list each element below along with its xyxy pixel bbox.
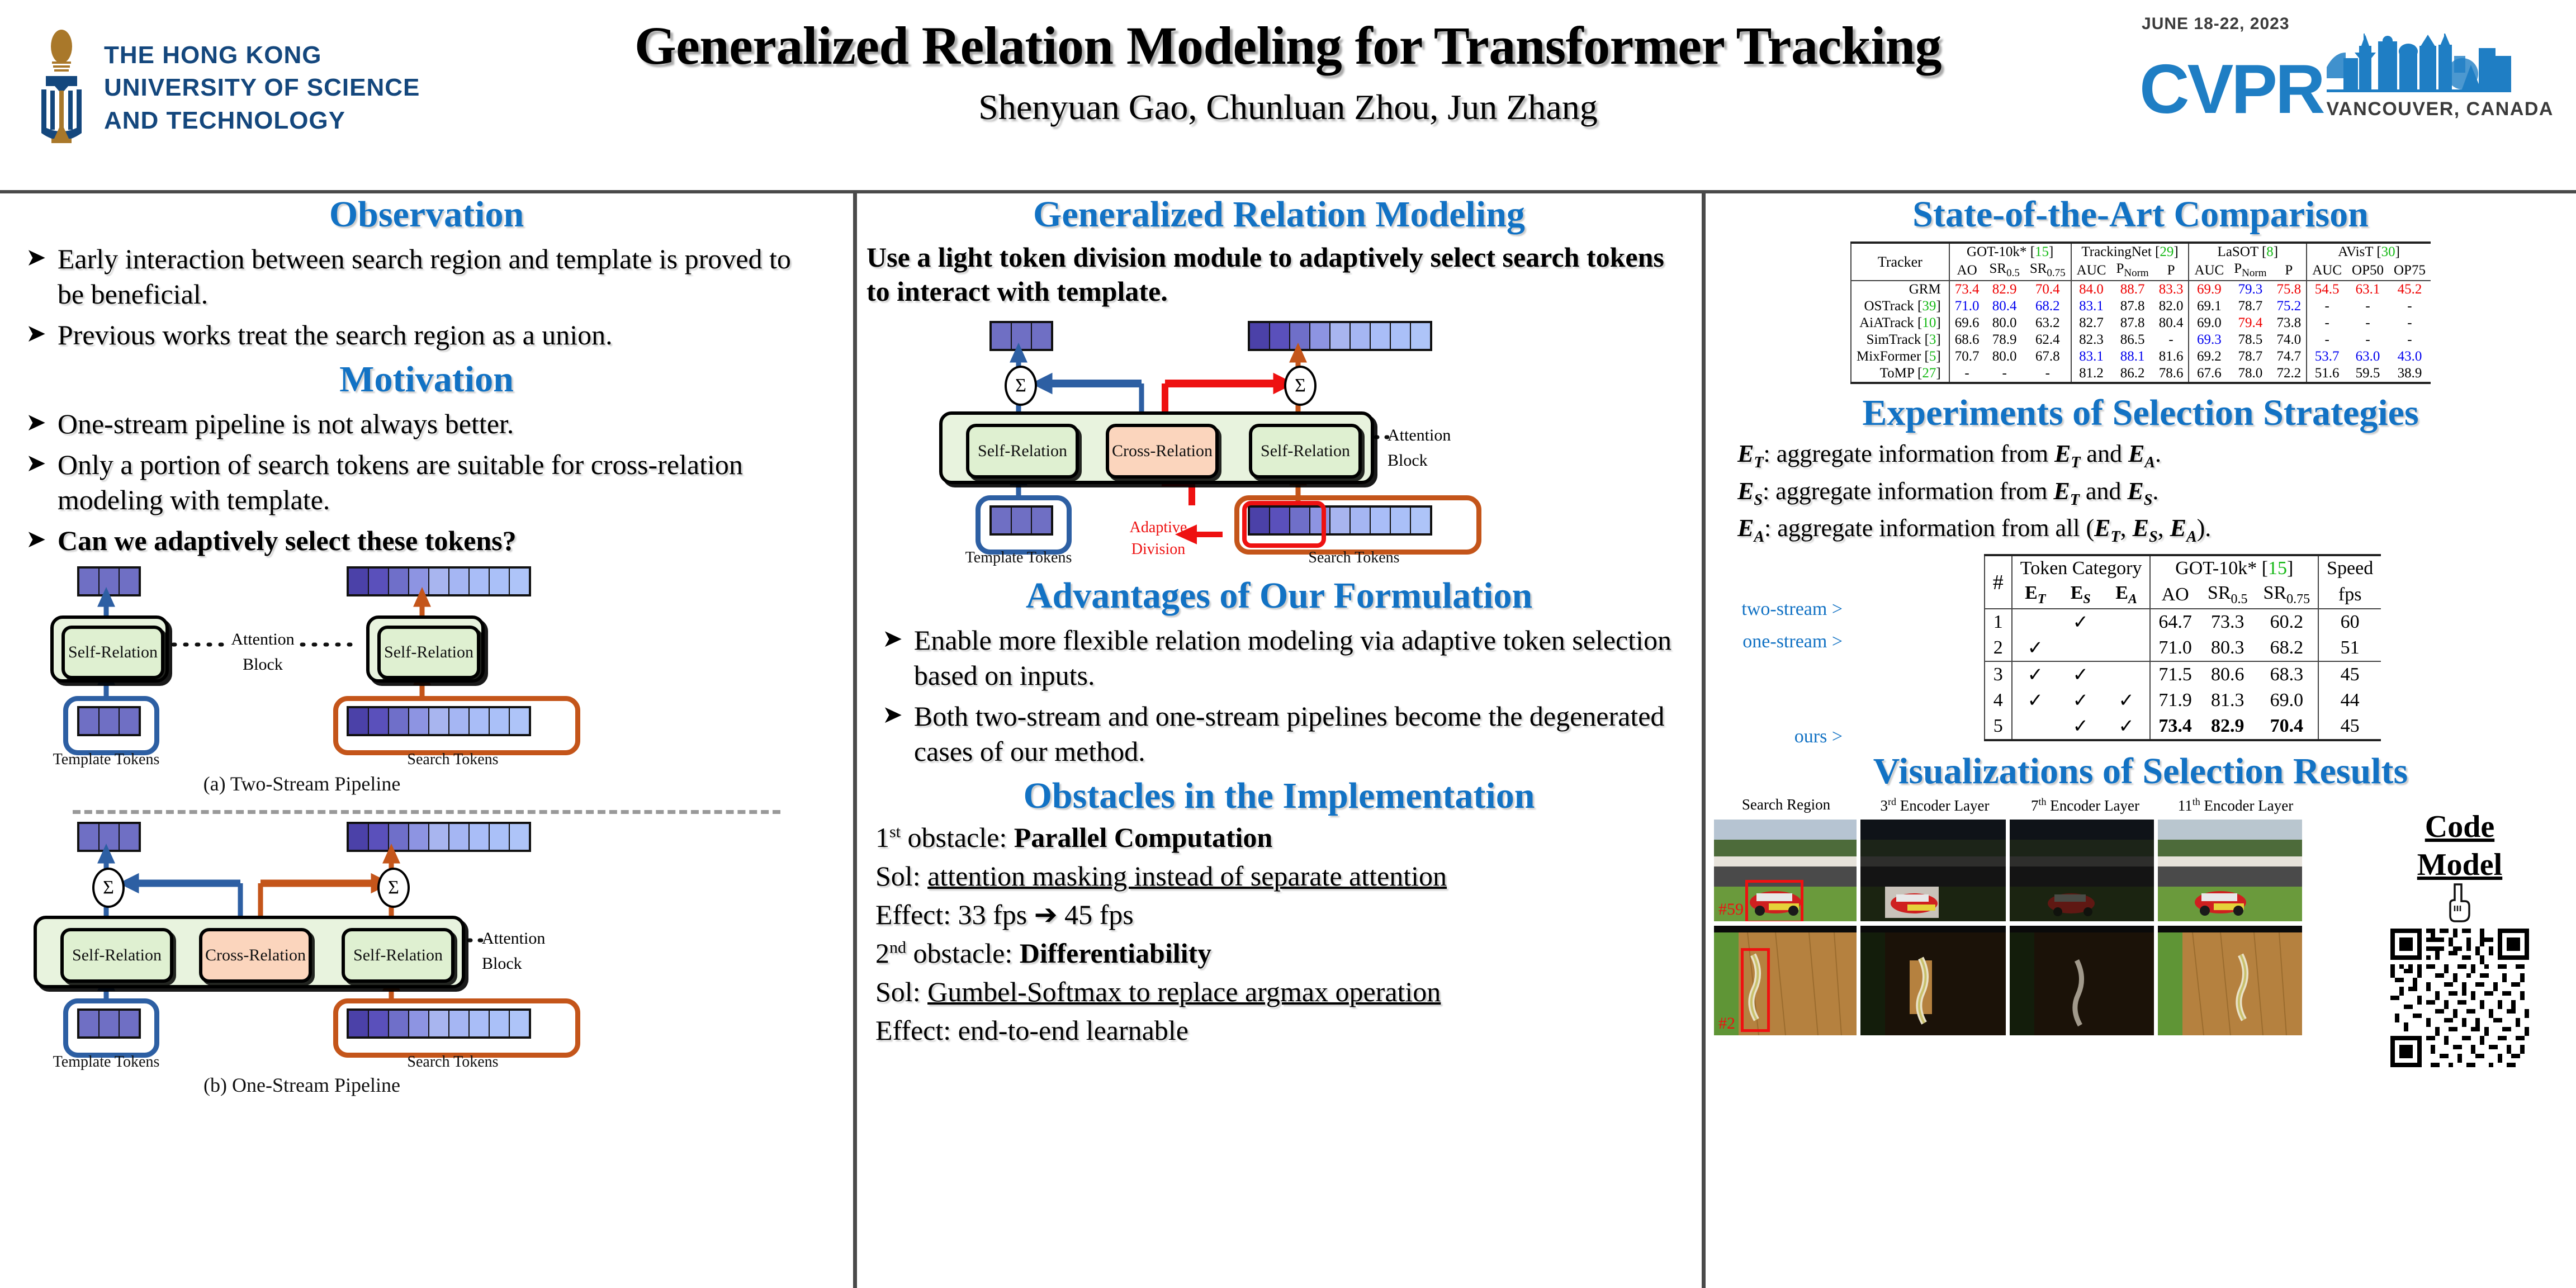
- table-cell: 78.7: [2229, 348, 2271, 365]
- adaptive-division-hull: [1242, 501, 1326, 548]
- table-cell: ✓: [2012, 688, 2058, 713]
- table-cell: 82.7: [2071, 315, 2111, 332]
- table-cell: [2058, 635, 2103, 661]
- table-row: 3✓✓71.580.668.345: [1985, 661, 2381, 688]
- obstacle-2-name: Differentiability: [1020, 937, 1211, 969]
- col-header-ea: EA: [2103, 581, 2151, 609]
- table-cell: [2012, 713, 2058, 740]
- cvpr-wordmark: CVPR: [2139, 59, 2323, 120]
- table-cell: 82.9: [1984, 281, 2024, 298]
- annotation-two-stream: two-stream >: [1708, 593, 1843, 626]
- cvpr-logo: JUNE 18-22, 2023 CVPR: [2139, 15, 2554, 120]
- vis-image-3rd-layer-2: [1860, 926, 2006, 1035]
- sigma-node-template: Σ: [1005, 366, 1037, 406]
- table-cell: 80.4: [1984, 298, 2024, 315]
- col-header-sr075: SR0.75: [2025, 261, 2071, 281]
- selection-strategies-table: # Token Category GOT-10k* [15] Speed ET …: [1984, 554, 2381, 742]
- target-bbox: [1741, 948, 1770, 1032]
- table-cell: 68.6: [1949, 332, 1985, 348]
- table-cell: 69.2: [2189, 348, 2229, 365]
- frame-label-1: #59: [1718, 900, 1744, 919]
- table-cell: 80.6: [2200, 661, 2256, 688]
- table-cell: 63.1: [2347, 281, 2389, 298]
- table-cell: 82.3: [2071, 332, 2111, 348]
- col-header-pnorm-tn: PNorm: [2111, 261, 2153, 281]
- motivation-bullet-1: One-stream pipeline is not always better…: [58, 406, 514, 442]
- table-row: AiATrack [10]69.680.063.282.787.880.469.…: [1851, 315, 2431, 332]
- table-cell: 51.6: [2307, 365, 2347, 383]
- input-search-tokens: [347, 706, 531, 736]
- vis-header-7th: 7th Encoder Layer: [2010, 796, 2160, 815]
- section-title-observation: Observation: [0, 193, 853, 236]
- col-header-auc-tn: AUC: [2071, 261, 2111, 281]
- template-tokens-label: Template Tokens: [50, 1053, 162, 1071]
- obstacle-2-sup: nd: [889, 938, 906, 956]
- list-item: ➤ Only a portion of search tokens are su…: [26, 447, 823, 518]
- search-tokens-label: Search Tokens: [391, 751, 514, 769]
- col-header-num: #: [1985, 555, 2012, 609]
- template-tokens-label: Template Tokens: [963, 549, 1074, 567]
- obstacle-1-solution: Sol: attention masking instead of separa…: [875, 858, 1702, 894]
- table-cell: ✓: [2058, 688, 2103, 713]
- table-cell: -: [2389, 315, 2431, 332]
- table-cell: 71.9: [2150, 688, 2200, 713]
- col-header-fps: fps: [2318, 581, 2381, 609]
- col-header-ao: AO: [1949, 261, 1985, 281]
- self-relation-box-left: Self-Relation: [966, 424, 1079, 479]
- table-cell: 78.0: [2229, 365, 2271, 383]
- vis-column-headers: Search Region 3rd Encoder Layer 7th Enco…: [1713, 796, 2311, 815]
- selection-row-annotations: two-stream > one-stream > ours >: [1708, 593, 1843, 753]
- attention-block-shared: Self-Relation Cross-Relation Self-Relati…: [939, 411, 1374, 484]
- table-cell: 63.2: [2025, 315, 2071, 332]
- observation-bullet-1: Early interaction between search region …: [58, 241, 823, 312]
- attention-block-label: Attention Block: [482, 926, 577, 976]
- selection-table-wrap: two-stream > one-stream > ours > # Token…: [1705, 554, 2576, 742]
- table-cell: -: [2347, 332, 2389, 348]
- table-cell: 71.0: [1949, 298, 1985, 315]
- table-cell: ✓: [2058, 713, 2103, 740]
- table-cell: 84.0: [2071, 281, 2111, 298]
- table-cell: 54.5: [2307, 281, 2347, 298]
- table-cell: 45: [2318, 713, 2381, 740]
- visualization-panel: Search Region 3rd Encoder Layer 7th Enco…: [1705, 796, 2576, 1042]
- table-cell: 73.4: [1949, 281, 1985, 298]
- vis-row-racecar: #59: [1714, 820, 2302, 921]
- figure-a-caption: (a) Two-Stream Pipeline: [0, 772, 604, 795]
- input-search-tokens: [347, 1008, 531, 1039]
- table-cell: -: [2389, 332, 2431, 348]
- input-template-tokens: [77, 706, 141, 736]
- table-cell: 45: [2318, 661, 2381, 688]
- table-cell: 44: [2318, 688, 2381, 713]
- obstacle-1-name: Parallel Computation: [1014, 822, 1272, 853]
- table-cell: 53.7: [2307, 348, 2347, 365]
- adaptive-division-label: Adaptive Division: [1125, 517, 1192, 560]
- table-cell: 51: [2318, 635, 2381, 661]
- table-cell: 68.3: [2256, 661, 2319, 688]
- table-cell: -: [1984, 365, 2024, 383]
- col-header-op50: OP50: [2347, 261, 2389, 281]
- frame-label-2: #2: [1718, 1014, 1735, 1033]
- obstacle-1-line: 1st obstacle: Parallel Computation: [875, 820, 1702, 856]
- row-number: 5: [1985, 713, 2012, 740]
- col-header-tracker: Tracker: [1851, 243, 1949, 281]
- tracker-name: SimTrack [3]: [1851, 332, 1949, 348]
- table-cell: 80.4: [2154, 315, 2189, 332]
- table-cell: 78.9: [1984, 332, 2024, 348]
- table-cell: 43.0: [2389, 348, 2431, 365]
- section-title-sota: State-of-the-Art Comparison: [1705, 193, 2576, 236]
- def-ea: EA: aggregate information from all (ET, …: [1737, 511, 2576, 548]
- search-tokens-label: Search Tokens: [1292, 549, 1415, 567]
- bullet-arrow-icon: ➤: [26, 319, 46, 354]
- col-header-sr075-sel: SR0.75: [2256, 581, 2319, 609]
- row-number: 3: [1985, 661, 2012, 688]
- list-item: ➤ One-stream pipeline is not always bett…: [26, 406, 823, 442]
- self-relation-box: Self-Relation: [61, 626, 164, 679]
- self-relation-box-right: Self-Relation: [342, 928, 454, 983]
- col-header-sr05: SR0.5: [1984, 261, 2024, 281]
- attention-block-label: Attention Block: [224, 627, 302, 677]
- table-cell: 75.8: [2271, 281, 2307, 298]
- bullet-arrow-icon: ➤: [26, 524, 46, 560]
- bullet-arrow-icon: ➤: [882, 624, 903, 694]
- figure-b-caption: (b) One-Stream Pipeline: [0, 1073, 604, 1097]
- section-title-experiments: Experiments of Selection Strategies: [1705, 392, 2576, 434]
- vis-image-search-region-1: #59: [1714, 820, 1857, 921]
- table-cell: ✓: [2103, 713, 2151, 740]
- obstacle-2-effect: Effect: end-to-end learnable: [875, 1012, 1702, 1049]
- table-cell: 83.1: [2071, 298, 2111, 315]
- table-cell: 69.3: [2189, 332, 2229, 348]
- cvpr-date: JUNE 18-22, 2023: [2142, 15, 2554, 34]
- bullet-arrow-icon: ➤: [26, 243, 46, 313]
- table-cell: 68.2: [2025, 298, 2071, 315]
- table-cell: 74.7: [2271, 348, 2307, 365]
- figure-two-stream-pipeline: Self-Relation Self-Relation Attention Bl…: [0, 566, 853, 807]
- bullet-arrow-icon: ➤: [26, 448, 46, 519]
- table-cell: 88.1: [2111, 348, 2153, 365]
- def-es: ES: aggregate information from ET and ES…: [1737, 474, 2576, 512]
- code-model-block: Code Model: [2376, 809, 2544, 1067]
- advantage-bullet-2: Both two-stream and one-stream pipelines…: [914, 699, 1671, 769]
- table-row: 2✓71.080.368.251: [1985, 635, 2381, 661]
- obstacle-1-label: obstacle:: [901, 822, 1014, 853]
- table-cell: 88.7: [2111, 281, 2153, 298]
- sota-table-body: GRM73.482.970.484.088.783.369.979.375.85…: [1851, 281, 2431, 383]
- column-right: State-of-the-Art Comparison Tracker GOT-…: [1705, 193, 2576, 1288]
- table-row: ToMP [27]---81.286.278.667.678.072.251.6…: [1851, 365, 2431, 383]
- vis-image-7th-layer-2: [2010, 926, 2154, 1035]
- vis-image-3rd-layer-1: [1860, 820, 2006, 921]
- bullet-arrow-icon: ➤: [882, 700, 903, 770]
- pointing-hand-icon: [2376, 881, 2544, 925]
- table-cell: 73.8: [2271, 315, 2307, 332]
- table-cell: -: [1949, 365, 1985, 383]
- table-cell: -: [2307, 298, 2347, 315]
- table-cell: 71.5: [2150, 661, 2200, 688]
- col-header-es: ES: [2058, 581, 2103, 609]
- sel-header-group-row: # Token Category GOT-10k* [15] Speed: [1985, 555, 2381, 581]
- table-cell: 81.6: [2154, 348, 2189, 365]
- motivation-bullet-2: Only a portion of search tokens are suit…: [58, 447, 823, 518]
- group-header-avist: AVisT [30]: [2307, 243, 2431, 261]
- col-header-ao-sel: AO: [2150, 581, 2200, 609]
- table-row: GRM73.482.970.484.088.783.369.979.375.85…: [1851, 281, 2431, 298]
- section-title-visualizations: Visualizations of Selection Results: [1705, 750, 2576, 793]
- table-cell: 70.4: [2256, 713, 2319, 740]
- figure-one-stream-pipeline: Σ Σ Self-Relation Cross-Relation Self-Re…: [0, 822, 853, 1101]
- attention-block-template: Self-Relation: [50, 615, 169, 683]
- sol-1-text: attention masking instead of separate at…: [927, 860, 1447, 892]
- poster-root: THE HONG KONG UNIVERSITY OF SCIENCE AND …: [0, 0, 2576, 1288]
- table-cell: 62.4: [2025, 332, 2071, 348]
- table-cell: 83.1: [2071, 348, 2111, 365]
- tracker-name: AiATrack [10]: [1851, 315, 1949, 332]
- table-cell: 60: [2318, 609, 2381, 635]
- column-left: Observation ➤ Early interaction between …: [0, 193, 853, 1288]
- input-template-tokens: [77, 1008, 141, 1039]
- sigma-node-search: Σ: [1284, 366, 1317, 406]
- tracker-name: GRM: [1851, 281, 1949, 298]
- group-header-trackingnet: TrackingNet [29]: [2071, 243, 2189, 261]
- table-cell: 79.3: [2229, 281, 2271, 298]
- obstacle-1-effect: Effect: 33 fps ➔ 45 fps: [875, 897, 1702, 933]
- table-cell: -: [2389, 298, 2431, 315]
- motivation-bullet-3: Can we adaptively select these tokens?: [58, 523, 517, 558]
- vis-row-lizard: #2: [1714, 926, 2302, 1035]
- obstacle-2-solution: Sol: Gumbel-Softmax to replace argmax op…: [875, 974, 1702, 1010]
- table-cell: -: [2347, 315, 2389, 332]
- obstacle-2-label: obstacle:: [906, 937, 1020, 969]
- table-cell: ✓: [2012, 661, 2058, 688]
- table-cell: [2012, 609, 2058, 635]
- table-cell: [2103, 635, 2151, 661]
- table-cell: 81.3: [2200, 688, 2256, 713]
- obstacle-1-number: 1: [875, 822, 889, 853]
- attention-block-label: Attention Block: [1388, 423, 1483, 473]
- list-item: ➤ Enable more flexible relation modeling…: [882, 623, 1671, 693]
- row-number: 1: [1985, 609, 2012, 635]
- table-cell: 69.9: [2189, 281, 2229, 298]
- sigma-node-search: Σ: [377, 868, 410, 908]
- table-cell: 87.8: [2111, 298, 2153, 315]
- sota-comparison-table: Tracker GOT-10k* [15] TrackingNet [29] L…: [1850, 241, 2431, 384]
- annotation-one-stream: one-stream >: [1708, 626, 1843, 658]
- selection-table-body: 1✓64.773.360.2602✓71.080.368.2513✓✓71.58…: [1985, 609, 2381, 740]
- cross-relation-box: Cross-Relation: [199, 928, 312, 983]
- table-cell: 69.6: [1949, 315, 1985, 332]
- list-item: ➤ Early interaction between search regio…: [26, 241, 823, 312]
- table-cell: 86.2: [2111, 365, 2153, 383]
- table-cell: 70.4: [2025, 281, 2071, 298]
- table-cell: 60.2: [2256, 609, 2319, 635]
- table-row: SimTrack [3]68.678.962.482.386.5-69.378.…: [1851, 332, 2431, 348]
- table-cell: -: [2307, 332, 2347, 348]
- table-cell: 78.5: [2229, 332, 2271, 348]
- table-cell: 78.6: [2154, 365, 2189, 383]
- sota-table-wrap: Tracker GOT-10k* [15] TrackingNet [29] L…: [1705, 241, 2576, 384]
- col-header-p-la: P: [2271, 261, 2307, 281]
- sol-1-prefix: Sol:: [875, 860, 927, 892]
- vis-image-11th-layer-1: [2158, 820, 2302, 921]
- list-item: ➤ Previous works treat the search region…: [26, 318, 823, 353]
- col-header-sr05-sel: SR0.5: [2200, 581, 2256, 609]
- attention-block-shared: Self-Relation Cross-Relation Self-Relati…: [34, 916, 465, 988]
- table-cell: [2103, 609, 2151, 635]
- table-cell: 73.3: [2200, 609, 2256, 635]
- vis-header-11th: 11th Encoder Layer: [2160, 796, 2311, 815]
- col-header-et: ET: [2012, 581, 2058, 609]
- table-cell: 67.8: [2025, 348, 2071, 365]
- table-cell: 86.5: [2111, 332, 2153, 348]
- grm-subtitle: Use a light token division module to ada…: [866, 240, 1688, 309]
- table-cell: 63.0: [2347, 348, 2389, 365]
- table-cell: 71.0: [2150, 635, 2200, 661]
- annotation-ours: ours >: [1708, 721, 1843, 753]
- sol-2-prefix: Sol:: [875, 976, 927, 1007]
- section-title-obstacles: Obstacles in the Implementation: [856, 775, 1702, 817]
- tracker-name: MixFormer [5]: [1851, 348, 1949, 365]
- column-middle: Generalized Relation Modeling Use a ligh…: [856, 193, 1702, 1288]
- vis-header-3rd: 3rd Encoder Layer: [1859, 796, 2010, 815]
- obstacle-2-number: 2: [875, 937, 889, 969]
- search-tokens-label: Search Tokens: [391, 1053, 514, 1071]
- table-header-group-row: Tracker GOT-10k* [15] TrackingNet [29] L…: [1851, 243, 2431, 261]
- self-relation-box-left: Self-Relation: [60, 928, 173, 983]
- target-bbox: [1745, 880, 1803, 921]
- table-cell: 67.6: [2189, 365, 2229, 383]
- table-cell: -: [2025, 365, 2071, 383]
- col-header-auc-av: AUC: [2307, 261, 2347, 281]
- table-cell: ✓: [2058, 661, 2103, 688]
- group-header-got10k: GOT-10k* [15]: [1949, 243, 2071, 261]
- cvpr-city: VANCOUVER, CANADA: [2327, 98, 2554, 120]
- table-row: 1✓64.773.360.260: [1985, 609, 2381, 635]
- obstacle-2-line: 2nd obstacle: Differentiability: [875, 935, 1702, 972]
- self-relation-box: Self-Relation: [377, 626, 480, 679]
- figure-separator: [73, 810, 780, 814]
- table-cell: 72.2: [2271, 365, 2307, 383]
- group-header-token-category: Token Category: [2012, 555, 2151, 581]
- table-row: MixFormer [5]70.780.067.883.188.181.669.…: [1851, 348, 2431, 365]
- self-relation-box-right: Self-Relation: [1249, 424, 1362, 479]
- poster-columns: Observation ➤ Early interaction between …: [0, 193, 2576, 1288]
- observation-bullet-2: Previous works treat the search region a…: [58, 318, 613, 353]
- sigma-node-template: Σ: [92, 868, 125, 908]
- table-cell: -: [2307, 315, 2347, 332]
- list-item: ➤ Both two-stream and one-stream pipelin…: [882, 699, 1671, 769]
- figure-a-arrows: [0, 566, 559, 807]
- model-link-label[interactable]: Model: [2376, 847, 2544, 883]
- row-number: 2: [1985, 635, 2012, 661]
- table-cell: 80.0: [1984, 315, 2024, 332]
- template-tokens-label: Template Tokens: [50, 751, 162, 769]
- code-link-label[interactable]: Code: [2376, 809, 2544, 845]
- table-cell: 81.2: [2071, 365, 2111, 383]
- input-template-tokens: [989, 505, 1053, 536]
- table-cell: 68.2: [2256, 635, 2319, 661]
- sol-2-text: Gumbel-Softmax to replace argmax operati…: [927, 976, 1441, 1007]
- table-row: 4✓✓✓71.981.369.044: [1985, 688, 2381, 713]
- cross-relation-box: Cross-Relation: [1106, 424, 1219, 479]
- table-cell: 82.9: [2200, 713, 2256, 740]
- col-header-auc-la: AUC: [2189, 261, 2229, 281]
- tracker-name: ToMP [27]: [1851, 365, 1949, 383]
- group-header-got10k-sel: GOT-10k* [15]: [2150, 555, 2318, 581]
- list-item: ➤ Can we adaptively select these tokens?: [26, 523, 823, 558]
- table-cell: [2103, 661, 2151, 688]
- figure-grm: Σ Σ Self-Relation Cross-Relation Self-Re…: [856, 321, 1702, 572]
- bullet-arrow-icon: ➤: [26, 408, 46, 443]
- table-cell: 74.0: [2271, 332, 2307, 348]
- table-cell: 83.3: [2154, 281, 2189, 298]
- section-title-motivation: Motivation: [0, 358, 853, 401]
- table-cell: 78.7: [2229, 298, 2271, 315]
- table-row: OSTrack [39]71.080.468.283.187.882.069.1…: [1851, 298, 2431, 315]
- vis-image-11th-layer-2: [2158, 926, 2302, 1035]
- section-title-grm: Generalized Relation Modeling: [856, 193, 1702, 236]
- table-cell: ✓: [2012, 635, 2058, 661]
- table-row: 5✓✓73.482.970.445: [1985, 713, 2381, 740]
- selection-strategy-definitions: ET: aggregate information from ET and EA…: [1737, 437, 2576, 548]
- table-cell: 69.0: [2189, 315, 2229, 332]
- table-cell: 38.9: [2389, 365, 2431, 383]
- table-cell: 69.0: [2256, 688, 2319, 713]
- poster-header: THE HONG KONG UNIVERSITY OF SCIENCE AND …: [0, 0, 2576, 193]
- table-cell: 73.4: [2150, 713, 2200, 740]
- section-title-advantages: Advantages of Our Formulation: [856, 575, 1702, 617]
- table-cell: ✓: [2058, 609, 2103, 635]
- table-cell: ✓: [2103, 688, 2151, 713]
- table-cell: 64.7: [2150, 609, 2200, 635]
- vis-image-search-region-2: #2: [1714, 926, 1857, 1035]
- sel-subheader-row: ET ES EA AO SR0.5 SR0.75 fps: [1985, 581, 2381, 609]
- obstacle-1-sup: st: [889, 822, 901, 841]
- table-cell: 69.1: [2189, 298, 2229, 315]
- row-number: 4: [1985, 688, 2012, 713]
- table-cell: 80.3: [2200, 635, 2256, 661]
- table-cell: 59.5: [2347, 365, 2389, 383]
- table-cell: -: [2347, 298, 2389, 315]
- table-cell: 75.2: [2271, 298, 2307, 315]
- table-cell: 87.8: [2111, 315, 2153, 332]
- table-cell: -: [2154, 332, 2189, 348]
- advantage-bullet-1: Enable more flexible relation modeling v…: [914, 623, 1671, 693]
- table-cell: 70.7: [1949, 348, 1985, 365]
- col-header-op75: OP75: [2389, 261, 2431, 281]
- table-cell: 82.0: [2154, 298, 2189, 315]
- group-header-lasot: LaSOT [8]: [2189, 243, 2307, 261]
- tracker-name: OSTrack [39]: [1851, 298, 1949, 315]
- qr-code[interactable]: [2376, 929, 2544, 1067]
- col-header-p-tn: P: [2154, 261, 2189, 281]
- vancouver-skyline-icon: [2327, 34, 2554, 95]
- table-cell: 45.2: [2389, 281, 2431, 298]
- col-header-pnorm-la: PNorm: [2229, 261, 2271, 281]
- table-cell: 80.0: [1984, 348, 2024, 365]
- vis-header-search-region: Search Region: [1713, 796, 1859, 815]
- vis-image-7th-layer-1: [2010, 820, 2154, 921]
- group-header-speed: Speed: [2318, 555, 2381, 581]
- attention-block-search: Self-Relation: [366, 615, 485, 683]
- def-et: ET: aggregate information from ET and EA…: [1737, 437, 2576, 474]
- table-cell: 79.4: [2229, 315, 2271, 332]
